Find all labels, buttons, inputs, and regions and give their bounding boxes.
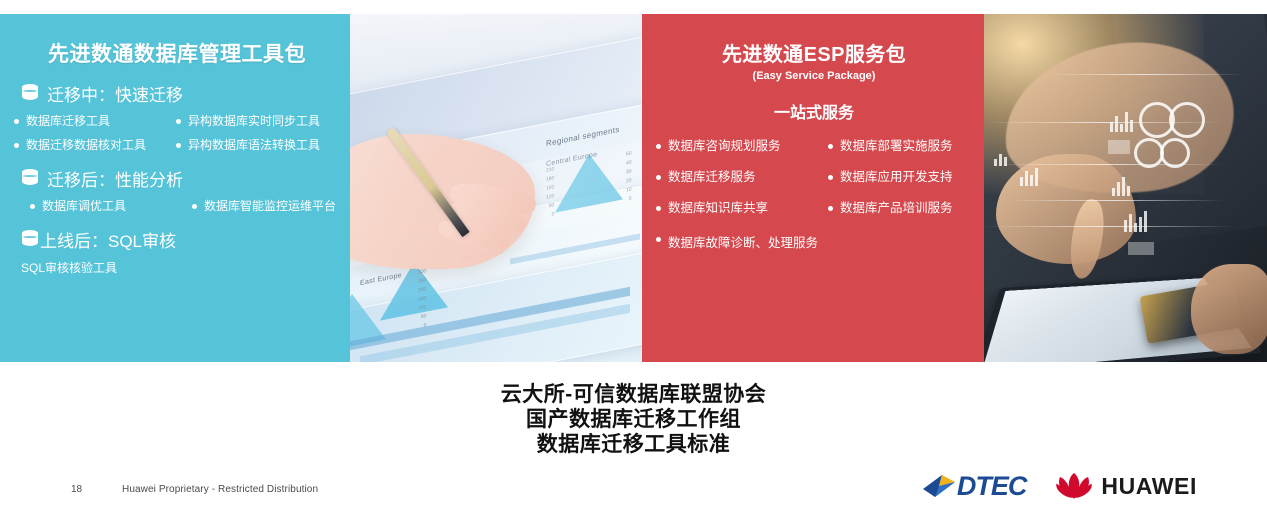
list-item: 数据库迁移工具 (14, 114, 172, 129)
confidentiality-notice: Huawei Proprietary - Restricted Distribu… (122, 484, 318, 495)
list-item: 数据库知识库共享 (656, 201, 826, 216)
tablet-photo (984, 14, 1267, 362)
list-item-label: 异构数据库实时同步工具 (188, 114, 320, 129)
list-item-label: 异构数据库语法转换工具 (188, 138, 320, 153)
list-item-label: 数据库迁移工具 (26, 114, 110, 129)
list-item-label: 数据库咨询规划服务 (668, 139, 781, 154)
section-heading-sql-audit-label: 上线后：SQL审核 (40, 227, 176, 252)
bullet-dot-icon (656, 237, 661, 242)
list-item: 数据库故障诊断、处理服务 (656, 232, 972, 251)
bullet-dot-icon (656, 206, 661, 211)
dtec-logo: DTEC (922, 473, 1027, 499)
dtec-arrow-icon (922, 473, 956, 499)
bullet-dot-icon (14, 143, 19, 148)
list-item: 数据库部署实施服务 (828, 139, 972, 154)
bullet-dot-icon (30, 204, 35, 209)
database-icon (22, 84, 38, 103)
page-number: 18 (71, 484, 82, 495)
database-icon (22, 230, 38, 249)
section-heading-performance: 迁移后：性能分析 (22, 166, 340, 191)
list-item-label: 数据库智能监控运维平台 (204, 199, 336, 214)
dtec-logo-text: DTEC (957, 473, 1027, 499)
section-heading-migration: 迁移中：快速迁移 (22, 81, 340, 106)
list-item: 数据库咨询规划服务 (656, 139, 826, 154)
section-heading-migration-label: 迁移中：快速迁移 (47, 81, 183, 106)
bullet-dot-icon (192, 204, 197, 209)
database-icon (22, 169, 38, 188)
list-item: 数据库迁移服务 (656, 170, 826, 185)
list-item: 数据库调优工具 (30, 199, 188, 214)
bullet-dot-icon (828, 206, 833, 211)
esp-section-heading: 一站式服务 (656, 99, 972, 123)
list-item-label: 数据迁移数据核对工具 (26, 138, 146, 153)
migration-tools-list: 数据库迁移工具 异构数据库实时同步工具 数据迁移数据核对工具 异构数据库语法转换… (14, 114, 340, 153)
headline-line-1: 云大所-可信数据库联盟协会 (0, 382, 1267, 407)
headline-line-2: 国产数据库迁移工作组 (0, 407, 1267, 432)
list-item-label: 数据库应用开发支持 (840, 170, 953, 185)
logo-row: DTEC HUAWEI (922, 472, 1197, 500)
bullet-dot-icon (176, 143, 181, 148)
list-item: 数据库应用开发支持 (828, 170, 972, 185)
list-item: SQL审核核验工具 (14, 261, 340, 276)
section-heading-performance-label: 迁移后：性能分析 (47, 166, 183, 191)
huawei-logo-text: HUAWEI (1101, 474, 1197, 498)
esp-title: 先进数通ESP服务包 (656, 38, 972, 67)
tools-package-panel: 先进数通数据库管理工具包 迁移中：快速迁移 数据库迁移工具 异构数据库实时同步工… (0, 14, 350, 362)
esp-subtitle: (Easy Service Package) (656, 70, 972, 82)
list-item-label: 数据库故障诊断、处理服务 (668, 232, 818, 251)
charts-photo: Regional segments Central Europe East Eu… (350, 14, 642, 362)
list-item-label: 数据库迁移服务 (668, 170, 756, 185)
bullet-dot-icon (828, 144, 833, 149)
esp-service-package-panel: 先进数通ESP服务包 (Easy Service Package) 一站式服务 … (642, 14, 984, 362)
list-item-label: 数据库产品培训服务 (840, 201, 953, 216)
bullet-dot-icon (14, 119, 19, 124)
huawei-flower-icon (1056, 472, 1092, 500)
performance-tools-list: 数据库调优工具 数据库智能监控运维平台 (30, 199, 340, 214)
list-item-label: 数据库知识库共享 (668, 201, 768, 216)
list-item-label: 数据库部署实施服务 (840, 139, 953, 154)
tools-package-title: 先进数通数据库管理工具包 (14, 38, 340, 68)
bullet-dot-icon (176, 119, 181, 124)
list-item-label: SQL审核核验工具 (21, 261, 117, 276)
esp-services-list: 数据库咨询规划服务 数据库部署实施服务 数据库迁移服务 数据库应用开发支持 数据… (656, 139, 972, 216)
headline-line-3: 数据库迁移工具标准 (0, 432, 1267, 457)
bullet-dot-icon (656, 144, 661, 149)
list-item: 异构数据库实时同步工具 (176, 114, 340, 129)
list-item: 异构数据库语法转换工具 (176, 138, 340, 153)
bullet-dot-icon (828, 175, 833, 180)
headline-block: 云大所-可信数据库联盟协会 国产数据库迁移工作组 数据库迁移工具标准 (0, 382, 1267, 457)
list-item: 数据库产品培训服务 (828, 201, 972, 216)
huawei-logo: HUAWEI (1056, 472, 1197, 500)
banner-strip: 先进数通数据库管理工具包 迁移中：快速迁移 数据库迁移工具 异构数据库实时同步工… (0, 14, 1267, 362)
list-item-label: 数据库调优工具 (42, 199, 126, 214)
bullet-dot-icon (656, 175, 661, 180)
list-item: 数据迁移数据核对工具 (14, 138, 172, 153)
list-item: 数据库智能监控运维平台 (192, 199, 340, 214)
section-heading-sql-audit: 上线后：SQL审核 (22, 227, 340, 252)
